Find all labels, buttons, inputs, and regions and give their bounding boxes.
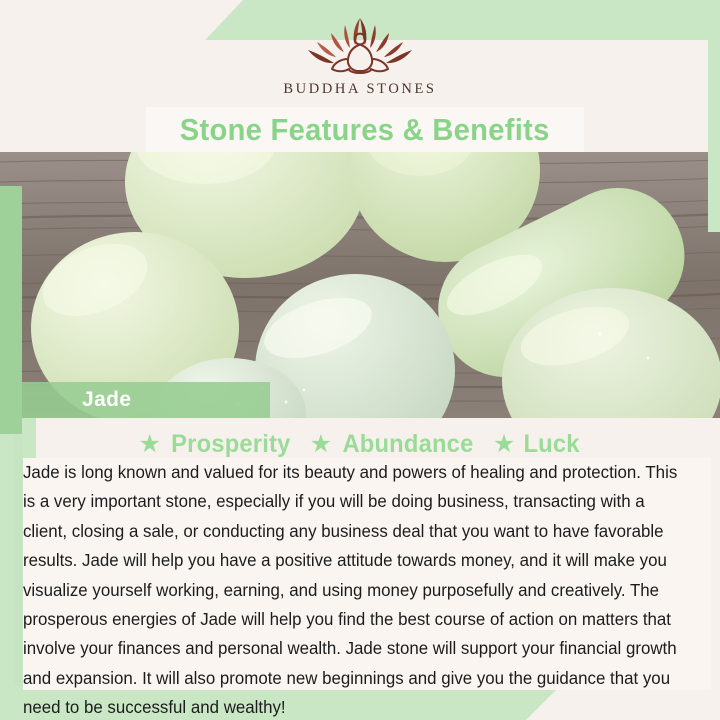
brand-logo: BUDDHA STONES [0,14,720,106]
keyword-abundance: ★ Abundance [310,430,477,459]
star-icon: ★ [138,432,160,457]
lotus-meditation-figure-icon [301,14,419,80]
keyword-label: Luck [524,430,580,459]
infographic-page: BUDDHA STONES Stone Features & Benefits [0,0,720,720]
keyword-row: ★ Prosperity ★ Abundance ★ Luck [0,430,720,459]
description-text: Jade is long known and valued for its be… [23,458,690,720]
page-title: Stone Features & Benefits [180,112,550,148]
stone-name: Jade [22,388,131,412]
stone-photo [0,152,720,418]
decor-left-bar [0,186,22,434]
decor-left-strip [14,434,23,686]
title-banner: Stone Features & Benefits [146,107,584,152]
keyword-prosperity: ★ Prosperity [138,430,293,459]
keyword-label: Abundance [342,430,473,459]
keyword-label: Prosperity [171,430,290,459]
star-icon: ★ [310,432,332,457]
stone-name-band: Jade [22,382,270,418]
brand-name: BUDDHA STONES [283,81,436,98]
stone-photo-illustration [0,152,720,418]
description-panel: Jade is long known and valued for its be… [23,458,711,690]
keyword-luck: ★ Luck [493,430,582,459]
star-icon: ★ [493,432,515,457]
